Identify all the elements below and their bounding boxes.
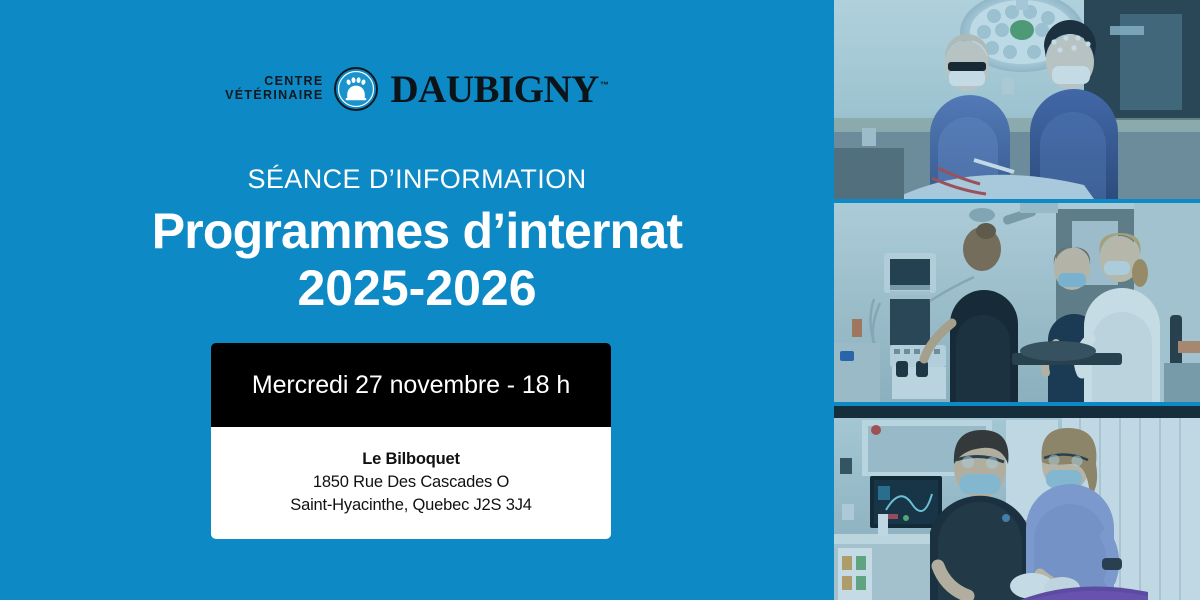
treatment-table-exam-photo bbox=[834, 406, 1200, 600]
event-date-text: Mercredi 27 novembre - 18 h bbox=[252, 371, 570, 400]
venue-city: Saint-Hyacinthe, Quebec J2S 3J4 bbox=[221, 494, 601, 517]
logo-line-centre: CENTRE bbox=[225, 74, 323, 89]
logo-line-veterinaire: VÉTÉRINAIRE bbox=[225, 88, 323, 103]
event-venue-block: Le Bilboquet 1850 Rue Des Cascades O Sai… bbox=[211, 427, 611, 539]
event-poster: CENTRE VÉTÉRINAIRE DAUBIGN bbox=[0, 0, 1200, 600]
trademark-icon: ™ bbox=[600, 80, 609, 90]
brand-logo-lockup: CENTRE VÉTÉRINAIRE DAUBIGN bbox=[0, 66, 834, 111]
title-line-1: Programmes d’internat bbox=[0, 203, 834, 260]
venue-street: 1850 Rue Des Cascades O bbox=[221, 471, 601, 494]
event-date-banner: Mercredi 27 novembre - 18 h bbox=[211, 343, 611, 427]
logo-wordmark: DAUBIGNY™ bbox=[390, 66, 608, 111]
photo-strip bbox=[834, 0, 1200, 600]
logo-centre-veterinaire-text: CENTRE VÉTÉRINAIRE bbox=[225, 74, 323, 104]
event-details-card: Mercredi 27 novembre - 18 h Le Bilboquet… bbox=[211, 343, 611, 539]
kicker-text: SÉANCE D’INFORMATION bbox=[0, 163, 834, 195]
ultrasound-imaging-room-photo bbox=[834, 203, 1200, 402]
paw-print-circle-icon bbox=[334, 67, 378, 111]
left-content-panel: CENTRE VÉTÉRINAIRE DAUBIGN bbox=[0, 0, 834, 600]
title-line-2: 2025-2026 bbox=[0, 260, 834, 317]
venue-name: Le Bilboquet bbox=[221, 448, 601, 471]
surgery-operating-room-photo bbox=[834, 0, 1200, 199]
logo-wordmark-text: DAUBIGNY bbox=[390, 68, 598, 111]
page-title: Programmes d’internat 2025-2026 bbox=[0, 203, 834, 317]
